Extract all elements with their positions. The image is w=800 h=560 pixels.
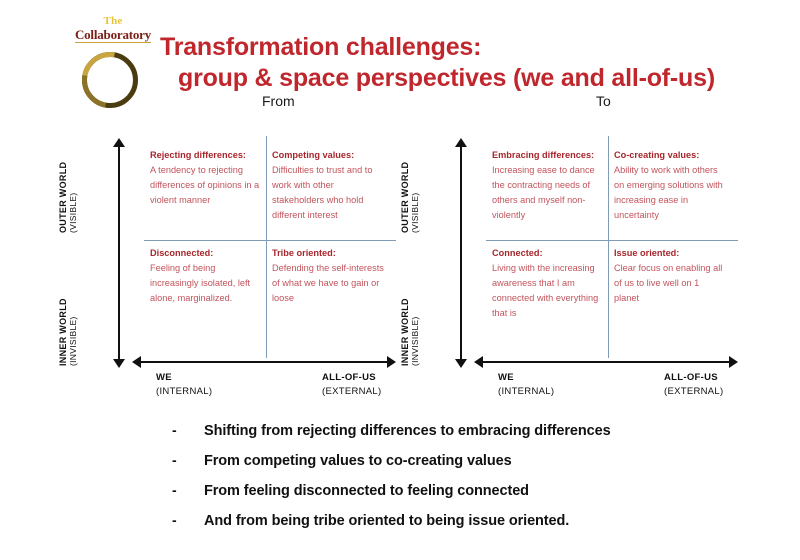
x-axis-from <box>132 356 396 368</box>
list-item: - Shifting from rejecting differences to… <box>172 422 772 440</box>
bullet-text: And from being tribe oriented to being i… <box>204 512 569 530</box>
slide-canvas: The Collaboratory Transformation challen… <box>0 0 800 560</box>
y-axis-label-inner-from: INNER WORLD (INVISIBLE) <box>58 246 78 366</box>
y-axis-label-outer-from: OUTER WORLD (VISIBLE) <box>58 113 78 233</box>
y-axis-outer-sub: (VISIBLE) <box>410 113 420 233</box>
quadrant-body: Increasing ease to dance the contracting… <box>492 165 595 220</box>
column-header-to: To <box>596 93 611 109</box>
quadrant-to-top-left: Embracing differences: Increasing ease t… <box>492 148 604 223</box>
quadrant-body: Difficulties to trust and to work with o… <box>272 165 372 220</box>
matrix-from: OUTER WORLD (VISIBLE) INNER WORLD (INVIS… <box>58 128 403 408</box>
x-axis-allofus-main: ALL-OF-US <box>664 372 718 383</box>
y-axis-label-inner-to: INNER WORLD (INVISIBLE) <box>400 246 420 366</box>
y-axis-inner-sub: (INVISIBLE) <box>410 246 420 366</box>
quadrant-body: Feeling of being increasingly isolated, … <box>150 263 250 303</box>
bullet-marker: - <box>172 452 204 470</box>
x-axis-label-we-from: WE (INTERNAL) <box>156 372 212 397</box>
y-axis-outer-sub: (VISIBLE) <box>68 113 78 233</box>
column-headers: From To <box>0 93 800 113</box>
title-line-2: group & space perspectives (we and all-o… <box>160 63 780 94</box>
x-axis-we-main: WE <box>156 372 172 383</box>
matrix-to: OUTER WORLD (VISIBLE) INNER WORLD (INVIS… <box>400 128 745 408</box>
quadrant-to-top-right: Co-creating values: Ability to work with… <box>614 148 726 223</box>
quadrant-heading: Tribe oriented: <box>272 246 384 261</box>
bullet-text: From competing values to co-creating val… <box>204 452 512 470</box>
quadrant-from-top-left: Rejecting differences: A tendency to rej… <box>150 148 262 208</box>
quadrant-heading: Co-creating values: <box>614 148 726 163</box>
quadrant-body: Defending the self-interests of what we … <box>272 263 384 303</box>
x-axis-label-allofus-to: ALL-OF-US (EXTERNAL) <box>664 372 723 397</box>
arrow-down-icon <box>455 359 467 368</box>
y-axis-to <box>455 138 467 368</box>
x-axis-label-allofus-from: ALL-OF-US (EXTERNAL) <box>322 372 381 397</box>
quadrant-heading: Embracing differences: <box>492 148 604 163</box>
bullet-marker: - <box>172 512 204 530</box>
y-axis-outer-main: OUTER WORLD <box>58 113 68 233</box>
x-axis-allofus-sub: (EXTERNAL) <box>664 386 723 397</box>
quadrant-body: A tendency to rejecting differences of o… <box>150 165 259 205</box>
x-axis-allofus-sub: (EXTERNAL) <box>322 386 381 397</box>
quadrant-heading: Issue oriented: <box>614 246 726 261</box>
quadrant-body: Clear focus on enabling all of us to liv… <box>614 263 722 303</box>
y-axis-label-outer-to: OUTER WORLD (VISIBLE) <box>400 113 420 233</box>
x-axis-allofus-main: ALL-OF-US <box>322 372 376 383</box>
y-axis-outer-main: OUTER WORLD <box>400 113 410 233</box>
quadrant-heading: Competing values: <box>272 148 384 163</box>
x-axis-we-sub: (INTERNAL) <box>156 386 212 397</box>
y-axis-shaft <box>460 144 462 362</box>
y-axis-shaft <box>118 144 120 362</box>
bullet-text: Shifting from rejecting differences to e… <box>204 422 611 440</box>
quadrant-body: Living with the increasing awareness tha… <box>492 263 598 318</box>
column-header-from: From <box>262 93 295 109</box>
x-axis-label-we-to: WE (INTERNAL) <box>498 372 554 397</box>
arrow-down-icon <box>113 359 125 368</box>
x-axis-we-main: WE <box>498 372 514 383</box>
title-line-1: Transformation challenges: <box>160 33 481 61</box>
vertical-divider-from <box>266 136 267 358</box>
y-axis-inner-sub: (INVISIBLE) <box>68 246 78 366</box>
list-item: - From competing values to co-creating v… <box>172 452 772 470</box>
quadrant-to-bottom-right: Issue oriented: Clear focus on enabling … <box>614 246 726 306</box>
logo-collaboratory-text: Collaboratory <box>75 28 151 43</box>
summary-bullet-list: - Shifting from rejecting differences to… <box>172 422 772 543</box>
y-axis-inner-main: INNER WORLD <box>58 246 68 366</box>
x-axis-shaft <box>481 361 731 363</box>
horizontal-divider-to <box>486 240 738 241</box>
bullet-text: From feeling disconnected to feeling con… <box>204 482 529 500</box>
y-axis-from <box>113 138 125 368</box>
quadrant-from-top-right: Competing values: Difficulties to trust … <box>272 148 384 223</box>
horizontal-divider-from <box>144 240 396 241</box>
page-title: Transformation challenges: group & space… <box>160 32 780 93</box>
logo-the-text: The <box>68 16 158 27</box>
quadrant-body: Ability to work with others on emerging … <box>614 165 723 220</box>
x-axis-we-sub: (INTERNAL) <box>498 386 554 397</box>
list-item: - And from being tribe oriented to being… <box>172 512 772 530</box>
logo-wordmark: The Collaboratory <box>68 16 158 43</box>
arrow-right-icon <box>387 356 396 368</box>
quadrant-from-bottom-left: Disconnected: Feeling of being increasin… <box>150 246 262 306</box>
bullet-marker: - <box>172 422 204 440</box>
x-axis-to <box>474 356 738 368</box>
quadrant-to-bottom-left: Connected: Living with the increasing aw… <box>492 246 604 321</box>
list-item: - From feeling disconnected to feeling c… <box>172 482 772 500</box>
quadrant-heading: Connected: <box>492 246 604 261</box>
y-axis-inner-main: INNER WORLD <box>400 246 410 366</box>
quadrant-from-bottom-right: Tribe oriented: Defending the self-inter… <box>272 246 384 306</box>
arrow-right-icon <box>729 356 738 368</box>
vertical-divider-to <box>608 136 609 358</box>
bullet-marker: - <box>172 482 204 500</box>
quadrant-heading: Rejecting differences: <box>150 148 262 163</box>
quadrant-heading: Disconnected: <box>150 246 262 261</box>
x-axis-shaft <box>139 361 389 363</box>
